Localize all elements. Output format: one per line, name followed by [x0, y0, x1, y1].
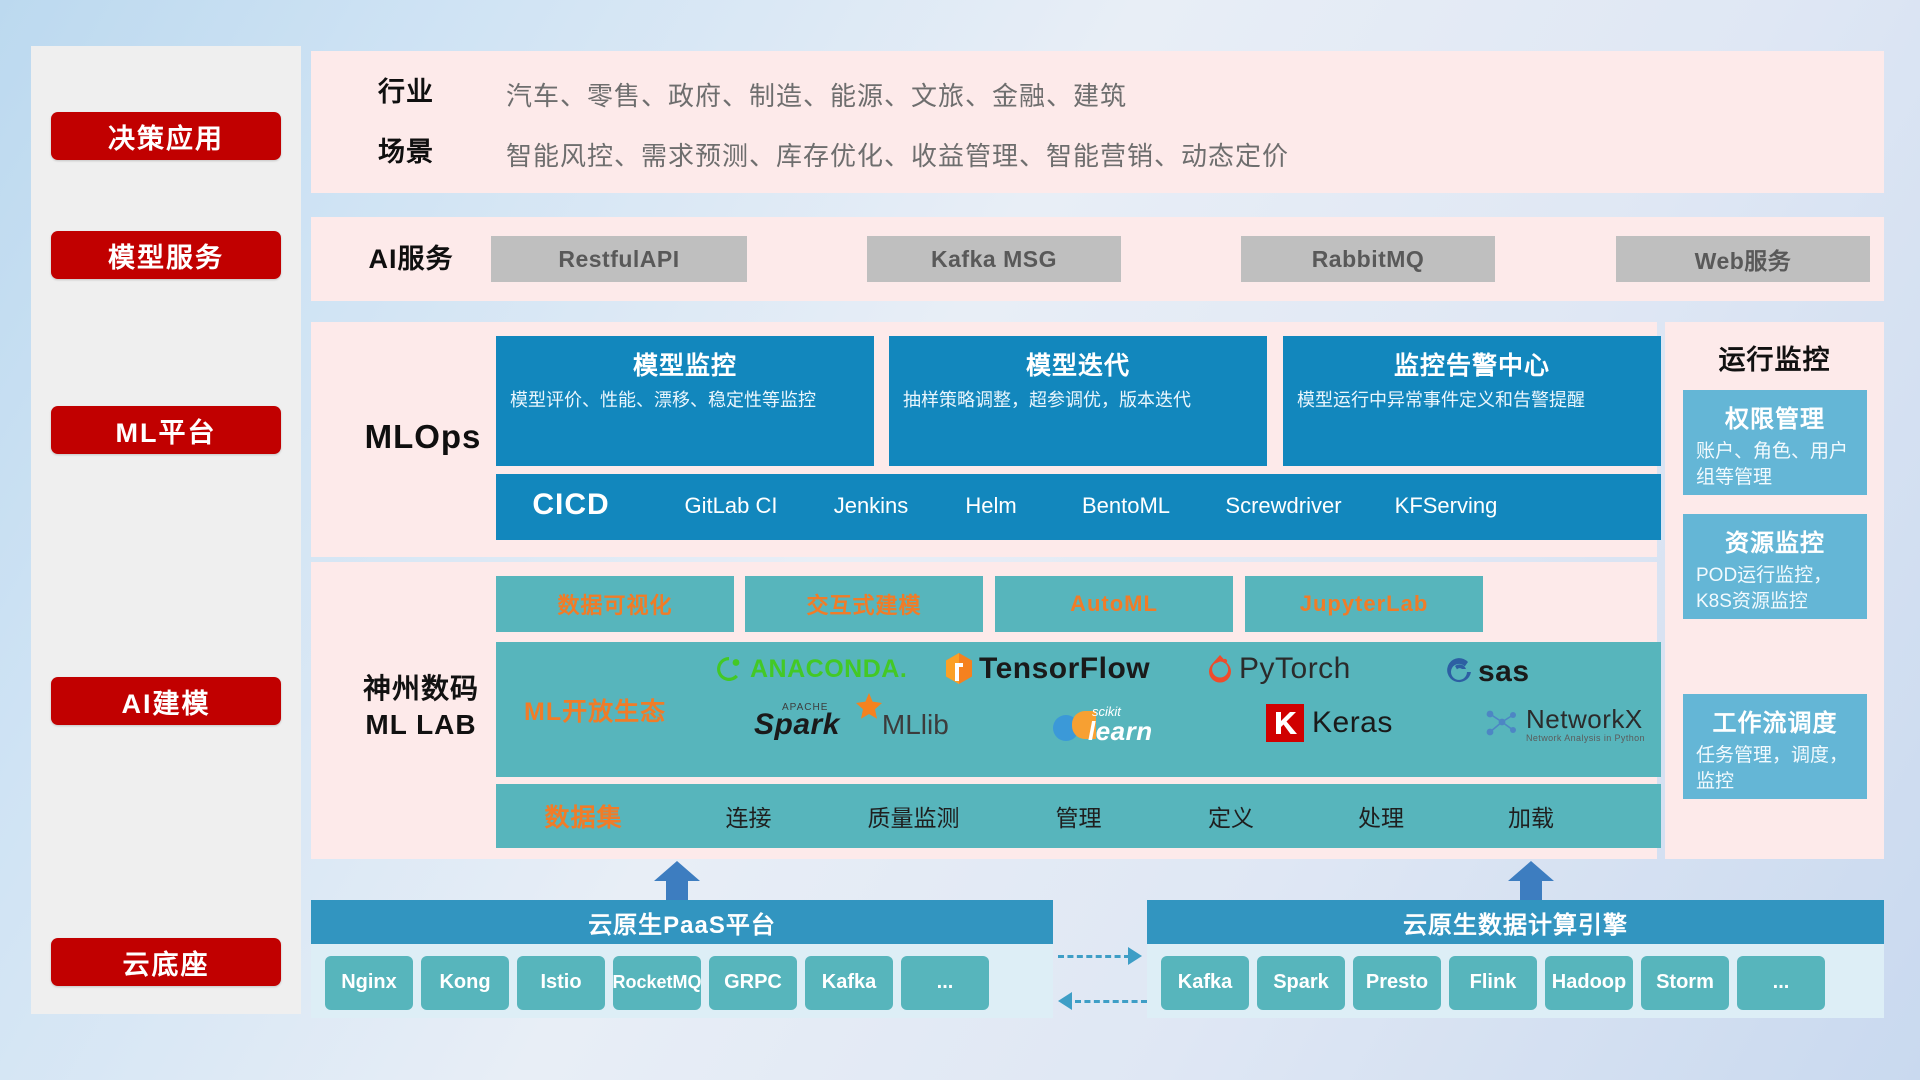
scikit-learn-logo: scikit learn: [1052, 708, 1096, 742]
dashed-arrow-right-line: [1058, 955, 1130, 958]
layer-tag-ai-modeling[interactable]: AI建模: [51, 677, 281, 725]
sas-logo: sas: [1446, 655, 1530, 689]
mlops-band: MLOps 模型监控 模型评价、性能、漂移、稳定性等监控 模型迭代 抽样策略调整…: [311, 322, 1657, 557]
cicd-item-screwdriver[interactable]: Screwdriver: [1196, 474, 1371, 520]
monitor-card-permission[interactable]: 权限管理 账户、角色、用户组等管理: [1683, 390, 1867, 495]
learn-label: learn: [1088, 716, 1153, 747]
cloud-chip-rocketmq[interactable]: RocketMQ: [613, 956, 701, 1010]
spark-logo: APACHE Spark MLlib: [754, 708, 949, 742]
anaconda-icon: [714, 654, 744, 684]
dataset-item-definition[interactable]: 定义: [1156, 799, 1306, 833]
monitor-card-desc: POD运行监控，K8S资源监控: [1696, 563, 1854, 615]
cloud-chip-hadoop[interactable]: Hadoop: [1545, 956, 1633, 1010]
monitor-card-title: 工作流调度: [1696, 703, 1854, 738]
cloud-chip-nginx[interactable]: Nginx: [325, 956, 413, 1010]
mlops-card-title: 模型迭代: [903, 346, 1253, 382]
layer-tag-model-service[interactable]: 模型服务: [51, 231, 281, 279]
ml-lab-label-cn: 神州数码: [331, 667, 511, 707]
spark-star-icon: [854, 692, 884, 722]
ml-lab-tab-interactive-modeling[interactable]: 交互式建模: [745, 576, 983, 632]
business-band: 行业 汽车、零售、政府、制造、能源、文旅、金融、建筑 场景 智能风控、需求预测、…: [311, 51, 1884, 193]
cloud-data-engine-panel: 云原生数据计算引擎 Kafka Spark Presto Flink Hadoo…: [1147, 900, 1884, 1018]
mlops-card-title: 模型监控: [510, 346, 860, 382]
cloud-chip-grpc[interactable]: GRPC: [709, 956, 797, 1010]
dataset-item-connect[interactable]: 连接: [671, 799, 826, 833]
networkx-sub-label: Network Analysis in Python: [1526, 733, 1645, 743]
layer-tag-cloud-base[interactable]: 云底座: [51, 938, 281, 986]
monitor-card-desc: 账户、角色、用户组等管理: [1696, 439, 1854, 491]
mlops-card-model-monitoring[interactable]: 模型监控 模型评价、性能、漂移、稳定性等监控: [496, 336, 874, 466]
ml-lab-dataset-row: 数据集 连接 质量监测 管理 定义 处理 加载: [496, 784, 1661, 848]
monitoring-band: 运行监控 权限管理 账户、角色、用户组等管理 资源监控 POD运行监控，K8S资…: [1665, 322, 1884, 859]
layer-tag-label: ML平台: [116, 411, 217, 450]
tensorflow-label: TensorFlow: [979, 652, 1150, 686]
cloud-chip-istio[interactable]: Istio: [517, 956, 605, 1010]
dashed-arrow-left-head: [1058, 992, 1072, 1010]
ml-lab-tab-data-visualization[interactable]: 数据可视化: [496, 576, 734, 632]
dataset-item-quality-monitoring[interactable]: 质量监测: [826, 799, 1001, 833]
business-row-label-scenario: 场景: [341, 131, 471, 173]
pytorch-logo: PyTorch: [1206, 652, 1351, 686]
mlops-card-title: 监控告警中心: [1297, 346, 1647, 382]
ml-lab-label-en: ML LAB: [331, 709, 511, 741]
layer-tag-label: 模型服务: [108, 236, 224, 275]
cloud-chip-more-2[interactable]: ...: [1737, 956, 1825, 1010]
networkx-label: NetworkX: [1526, 704, 1645, 735]
layer-tag-ml-platform[interactable]: ML平台: [51, 406, 281, 454]
sas-icon: [1446, 657, 1476, 687]
dashed-arrow-right-head: [1128, 947, 1142, 965]
mlops-label: MLOps: [333, 412, 513, 462]
tensorflow-icon: [944, 652, 974, 686]
layer-tag-label: AI建模: [122, 682, 211, 721]
ai-service-band: AI服务 RestfulAPI Kafka MSG RabbitMQ Web服务: [311, 217, 1884, 301]
mlops-card-alert-center[interactable]: 监控告警中心 模型运行中异常事件定义和告警提醒: [1283, 336, 1661, 466]
cicd-item-gitlab-ci[interactable]: GitLab CI: [646, 474, 816, 520]
up-arrow-icon-data-engine: [1508, 861, 1554, 901]
pytorch-icon: [1206, 653, 1234, 685]
cicd-item-jenkins[interactable]: Jenkins: [816, 474, 926, 520]
sas-label: sas: [1478, 655, 1530, 689]
networkx-icon: [1482, 706, 1520, 742]
anaconda-logo: ANACONDA .: [714, 654, 907, 684]
monitoring-title: 运行监控: [1665, 338, 1884, 377]
apache-label: APACHE: [782, 702, 828, 713]
business-row-label-industry: 行业: [341, 71, 471, 113]
cloud-paas-title: 云原生PaaS平台: [311, 900, 1053, 944]
mlops-card-desc: 模型评价、性能、漂移、稳定性等监控: [510, 388, 860, 414]
tensorflow-logo: TensorFlow: [944, 652, 1150, 686]
cicd-item-kfserving[interactable]: KFServing: [1371, 474, 1521, 520]
ai-service-label: AI服务: [341, 236, 481, 282]
ml-lab-label: 神州数码 ML LAB: [331, 667, 511, 741]
ml-lab-band: 神州数码 ML LAB 数据可视化 交互式建模 AutoML JupyterLa…: [311, 562, 1657, 859]
mlops-card-model-iteration[interactable]: 模型迭代 抽样策略调整，超参调优，版本迭代: [889, 336, 1267, 466]
dataset-item-management[interactable]: 管理: [1001, 799, 1156, 833]
ml-lab-tab-jupyterlab[interactable]: JupyterLab: [1245, 576, 1483, 632]
dataset-label: 数据集: [496, 798, 671, 834]
ai-service-chip-kafka-msg[interactable]: Kafka MSG: [867, 236, 1121, 282]
cloud-chip-kong[interactable]: Kong: [421, 956, 509, 1010]
monitor-card-title: 权限管理: [1696, 399, 1854, 434]
ai-service-chip-web-service[interactable]: Web服务: [1616, 236, 1870, 282]
up-arrow-icon-paas: [654, 861, 700, 901]
monitor-card-resource[interactable]: 资源监控 POD运行监控，K8S资源监控: [1683, 514, 1867, 619]
cloud-chip-more[interactable]: ...: [901, 956, 989, 1010]
business-row-text-scenario: 智能风控、需求预测、库存优化、收益管理、智能营销、动态定价: [506, 136, 1289, 173]
mllib-label: MLlib: [882, 709, 949, 741]
spark-label: Spark: [754, 708, 840, 742]
monitor-card-title: 资源监控: [1696, 523, 1854, 558]
ml-lab-tab-automl[interactable]: AutoML: [995, 576, 1233, 632]
cloud-paas-panel: 云原生PaaS平台 Nginx Kong Istio RocketMQ GRPC…: [311, 900, 1053, 1018]
layer-tag-label: 云底座: [123, 943, 210, 982]
ml-lab-eco-label: ML开放生态: [524, 692, 666, 728]
networkx-logo: NetworkX Network Analysis in Python: [1482, 704, 1645, 743]
ml-lab-ecosystem-panel: ML开放生态 ANACONDA . TensorFlow: [496, 642, 1661, 777]
cloud-data-engine-title: 云原生数据计算引擎: [1147, 900, 1884, 944]
monitor-card-desc: 任务管理，调度，监控: [1696, 743, 1854, 795]
architecture-diagram: 决策应用 模型服务 ML平台 AI建模 云底座 行业 汽车、零售、政府、制造、能…: [0, 0, 1920, 1080]
cicd-item-helm[interactable]: Helm: [926, 474, 1056, 520]
mlops-card-desc: 抽样策略调整，超参调优，版本迭代: [903, 388, 1253, 414]
dataset-item-loading[interactable]: 加载: [1456, 799, 1606, 833]
pytorch-label: PyTorch: [1239, 652, 1351, 686]
cloud-chip-kafka-2[interactable]: Kafka: [1161, 956, 1249, 1010]
monitor-card-workflow[interactable]: 工作流调度 任务管理，调度，监控: [1683, 694, 1867, 799]
ai-service-chip-restfulapi[interactable]: RestfulAPI: [491, 236, 747, 282]
layer-tag-label: 决策应用: [108, 117, 224, 156]
cloud-chip-kafka[interactable]: Kafka: [805, 956, 893, 1010]
cloud-chip-storm[interactable]: Storm: [1641, 956, 1729, 1010]
mlops-cicd-row: CICD GitLab CI Jenkins Helm BentoML Scre…: [496, 474, 1661, 540]
anaconda-label: ANACONDA: [750, 655, 900, 684]
mlops-card-desc: 模型运行中异常事件定义和告警提醒: [1297, 388, 1647, 414]
dataset-item-processing[interactable]: 处理: [1306, 799, 1456, 833]
cicd-item-bentoml[interactable]: BentoML: [1056, 474, 1196, 520]
keras-label: Keras: [1312, 706, 1393, 740]
keras-logo: Keras: [1266, 704, 1393, 742]
ai-service-chip-rabbitmq[interactable]: RabbitMQ: [1241, 236, 1495, 282]
keras-icon: [1266, 704, 1304, 742]
cloud-chip-presto[interactable]: Presto: [1353, 956, 1441, 1010]
cloud-chip-spark[interactable]: Spark: [1257, 956, 1345, 1010]
business-row-text-industry: 汽车、零售、政府、制造、能源、文旅、金融、建筑: [506, 76, 1127, 113]
layer-rail: [31, 46, 301, 1014]
layer-tag-decision[interactable]: 决策应用: [51, 112, 281, 160]
cloud-chip-flink[interactable]: Flink: [1449, 956, 1537, 1010]
cicd-label: CICD: [496, 474, 646, 522]
dashed-arrow-left-line: [1075, 1000, 1147, 1003]
